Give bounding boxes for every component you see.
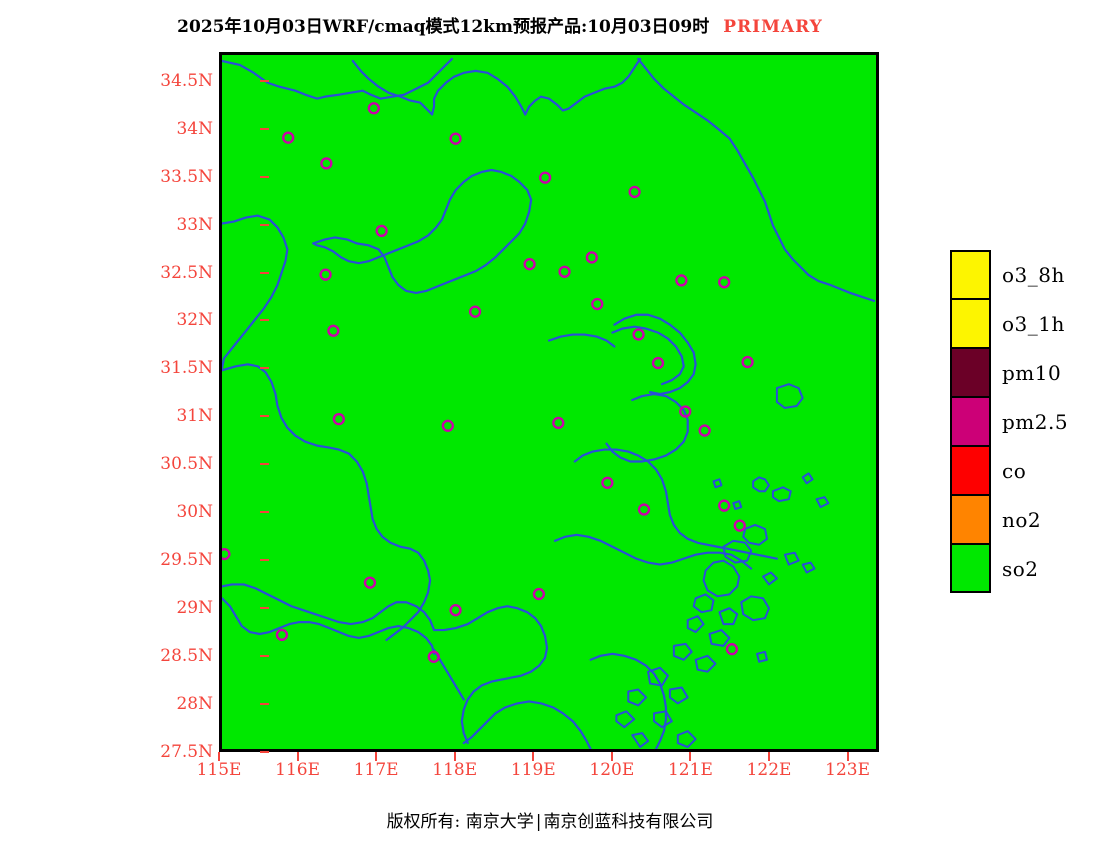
legend-item-no2[interactable]: no2 — [950, 495, 1098, 544]
legend-item-label: o3_8h — [1002, 263, 1065, 287]
x-axis: 115E116E117E118E119E120E121E122E123E — [0, 0, 1100, 850]
legend-item-pm25[interactable]: pm2.5 — [950, 397, 1098, 446]
legend-color-swatch — [950, 348, 991, 397]
x-tick-label: 117E — [354, 760, 399, 780]
x-tick-mark — [611, 752, 613, 761]
x-tick-mark — [768, 752, 770, 761]
legend-item-label: co — [1002, 459, 1026, 483]
x-tick-label: 122E — [747, 760, 792, 780]
x-tick-mark — [297, 752, 299, 761]
x-tick-mark — [375, 752, 377, 761]
legend-color-swatch — [950, 495, 991, 544]
legend-item-label: so2 — [1002, 557, 1039, 581]
legend-color-swatch — [950, 544, 991, 593]
copyright-footer: 版权所有: 南京大学|南京创蓝科技有限公司 — [0, 807, 1100, 832]
legend-item-label: no2 — [1002, 508, 1041, 532]
legend-item-label: pm10 — [1002, 361, 1061, 385]
x-tick-mark — [218, 752, 220, 761]
x-tick-label: 115E — [197, 760, 242, 780]
legend-item-label: o3_1h — [1002, 312, 1065, 336]
footer-right-text: 南京创蓝科技有限公司 — [543, 812, 713, 832]
legend-item-o38h[interactable]: o3_8h — [950, 250, 1098, 299]
x-tick-mark — [454, 752, 456, 761]
legend-item-co[interactable]: co — [950, 446, 1098, 495]
x-tick-label: 120E — [589, 760, 634, 780]
legend-item-o31h[interactable]: o3_1h — [950, 299, 1098, 348]
footer-separator: | — [534, 812, 544, 832]
x-tick-mark — [847, 752, 849, 761]
pollutant-legend: o3_8ho3_1hpm10pm2.5cono2so2 — [950, 250, 1098, 593]
legend-item-label: pm2.5 — [1002, 410, 1068, 434]
legend-color-swatch — [950, 446, 991, 495]
legend-item-so2[interactable]: so2 — [950, 544, 1098, 593]
legend-color-swatch — [950, 299, 991, 348]
x-tick-label: 121E — [668, 760, 713, 780]
x-tick-mark — [532, 752, 534, 761]
x-tick-label: 116E — [275, 760, 320, 780]
x-tick-label: 123E — [825, 760, 870, 780]
legend-item-pm10[interactable]: pm10 — [950, 348, 1098, 397]
footer-left-text: 版权所有: 南京大学 — [387, 812, 534, 832]
x-tick-label: 119E — [511, 760, 556, 780]
x-tick-mark — [689, 752, 691, 761]
x-tick-label: 118E — [432, 760, 477, 780]
legend-color-swatch — [950, 397, 991, 446]
legend-color-swatch — [950, 250, 991, 299]
